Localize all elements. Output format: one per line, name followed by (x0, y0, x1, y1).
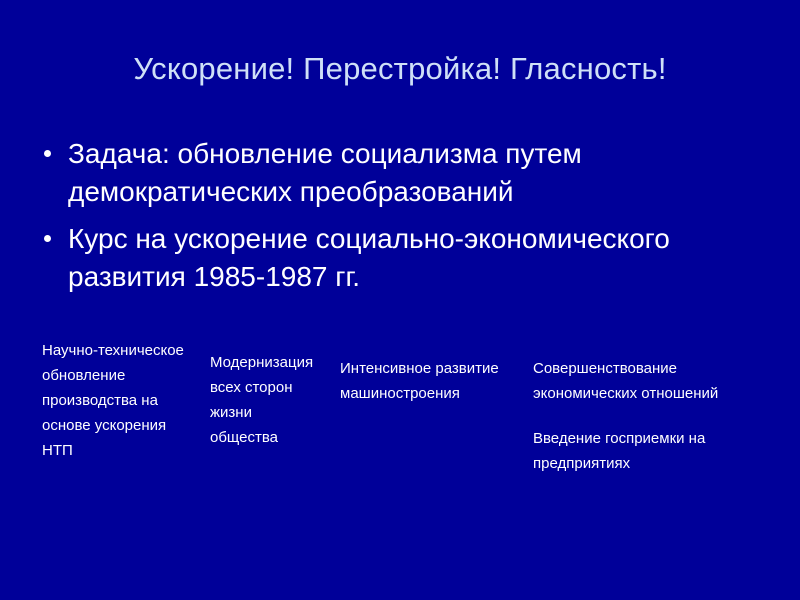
bullet-item-text: Задача: обновление социализма путем демо… (68, 138, 582, 207)
column-scientific-technical: Научно-техническое обновление производст… (42, 338, 192, 463)
bullet-dot-icon (44, 235, 51, 242)
column-economic-relations: Совершенствование экономических отношени… (533, 356, 765, 476)
column-paragraph: Интенсивное развитие машиностроения (340, 356, 520, 406)
bullet-item: Задача: обновление социализма путем демо… (38, 135, 768, 211)
bullet-dot-icon (44, 150, 51, 157)
presentation-slide: Ускорение! Перестройка! Гласность! Задач… (0, 0, 800, 600)
slide-title: Ускорение! Перестройка! Гласность! (40, 50, 760, 88)
detail-columns: Научно-техническое обновление производст… (0, 338, 800, 538)
bullet-item: Курс на ускорение социально-экономическо… (38, 220, 768, 296)
bullet-list: Задача: обновление социализма путем демо… (38, 135, 768, 305)
column-machine-building: Интенсивное развитие машиностроения (340, 356, 520, 406)
column-paragraph: Научно-техническое обновление производст… (42, 338, 192, 463)
bullet-item-text: Курс на ускорение социально-экономическо… (68, 223, 670, 292)
column-paragraph: Введение госприемки на предприятиях (533, 426, 765, 476)
column-modernization: Модернизация всех сторон жизни общества (210, 350, 322, 450)
column-paragraph: Совершенствование экономических отношени… (533, 356, 765, 406)
column-paragraph: Модернизация всех сторон жизни общества (210, 350, 322, 450)
